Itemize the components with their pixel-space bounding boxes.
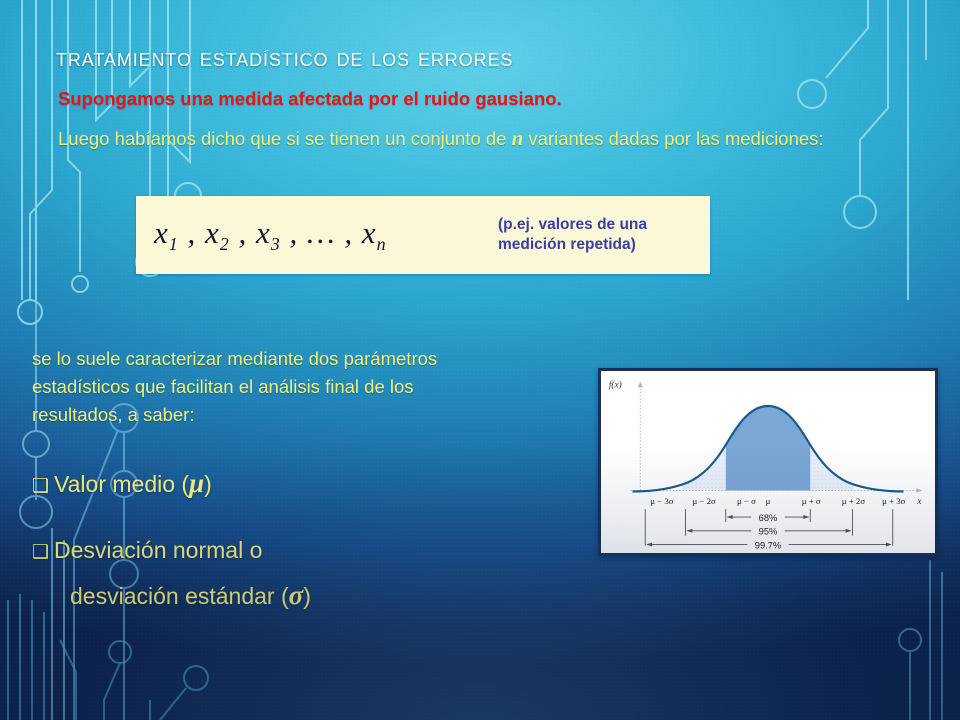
x-axis-label: x — [916, 497, 922, 507]
paragraph-line-1: se lo suele caracterizar mediante dos pa… — [32, 345, 578, 373]
slide-canvas: Tratamiento Estadístico de los Errores S… — [0, 0, 960, 720]
variable-n: n — [512, 126, 524, 150]
bullet-2-cont-before: desviación estándar ( — [70, 583, 289, 609]
svg-text:95%: 95% — [759, 527, 778, 537]
chart-shaded-regions — [683, 392, 854, 494]
sigma-symbol: σ — [289, 580, 304, 610]
x-axis-arrow — [916, 488, 922, 493]
mu-symbol: μ — [189, 468, 204, 498]
x-tick-labels: μ − 3σ μ − 2σ μ − σ μ μ + σ μ + 2σ μ + 3… — [650, 496, 905, 506]
svg-text:μ + 3σ: μ + 3σ — [882, 496, 906, 506]
svg-text:μ − 3σ: μ − 3σ — [650, 496, 674, 506]
paragraph-line-3: resultados, a saber: — [32, 401, 578, 429]
bullet-item-desviacion: ❑Desviación normal o desviación estándar… — [32, 533, 311, 613]
intro-line-red: Supongamos una medida afectada por el ru… — [58, 88, 898, 110]
svg-text:μ: μ — [766, 496, 771, 506]
y-axis-arrow — [638, 381, 643, 387]
interval-68: 68% — [727, 511, 810, 523]
interval-95: 95% — [686, 525, 851, 537]
bullet-1-text-after: ) — [204, 471, 212, 497]
gaussian-distribution-figure: f(x) x μ − 3σ μ − 2σ μ − σ μ μ + σ μ + 2… — [598, 368, 938, 556]
svg-text:68%: 68% — [759, 513, 778, 523]
svg-text:μ − σ: μ − σ — [737, 496, 756, 506]
bullet-2-text: Desviación normal o — [54, 537, 262, 563]
formula-note: (p.ej. valores de una medición repetida) — [498, 215, 710, 255]
interval-997: 99.7% — [646, 539, 892, 551]
bullet-2-continuation: desviación estándar (σ) — [32, 578, 311, 613]
bullet-item-valor-medio: ❑Valor medio (μ) — [32, 466, 212, 504]
formula-expression: x1 , x2 , x3 , … , xn — [136, 215, 387, 255]
svg-text:μ − 2σ: μ − 2σ — [692, 496, 716, 506]
gaussian-chart-svg: f(x) x μ − 3σ μ − 2σ μ − σ μ μ + σ μ + 2… — [601, 371, 935, 553]
svg-text:μ + 2σ: μ + 2σ — [842, 496, 866, 506]
intro-line-yellow: Luego habíamos dicho que si se tienen un… — [58, 125, 906, 152]
svg-text:μ + σ: μ + σ — [802, 496, 821, 506]
formula-box: x1 , x2 , x3 , … , xn (p.ej. valores de … — [136, 196, 710, 274]
body-paragraph: se lo suele caracterizar mediante dos pa… — [32, 345, 578, 429]
svg-text:99.7%: 99.7% — [755, 540, 781, 550]
intro-text-after: variantes dadas por las mediciones: — [523, 128, 823, 149]
bullet-1-text: Valor medio ( — [54, 471, 189, 497]
square-bullet-icon: ❑ — [32, 536, 54, 570]
intro-text-before: Luego habíamos dicho que si se tienen un… — [58, 128, 512, 149]
y-axis-label: f(x) — [609, 379, 622, 390]
bullet-2-cont-after: ) — [303, 583, 311, 609]
square-bullet-icon: ❑ — [32, 470, 54, 504]
paragraph-line-2: estadísticos que facilitan el análisis f… — [32, 373, 578, 401]
page-title: Tratamiento Estadístico de los Errores — [56, 44, 876, 73]
